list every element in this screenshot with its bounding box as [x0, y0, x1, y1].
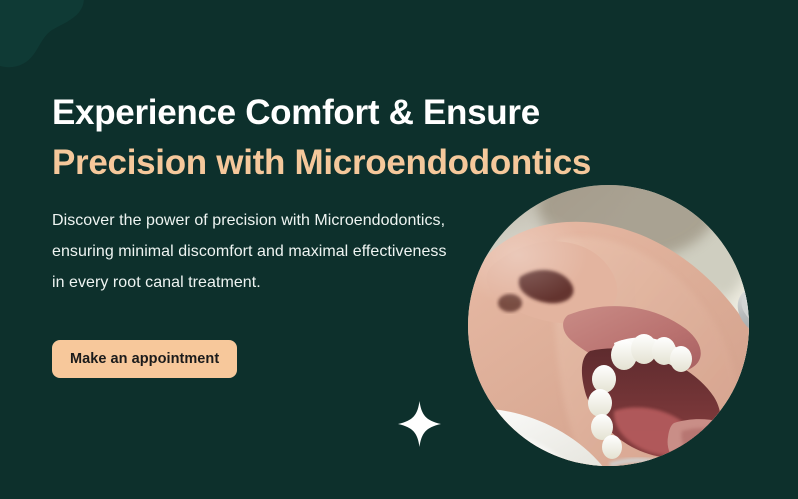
hero-banner: Experience Comfort & Ensure Precision wi… — [0, 0, 798, 499]
page-title: Experience Comfort & Ensure Precision wi… — [52, 0, 702, 188]
hero-description: Discover the power of precision with Mic… — [52, 188, 452, 298]
hero-content: Experience Comfort & Ensure Precision wi… — [52, 0, 702, 298]
sparkle-icon — [398, 401, 441, 447]
make-an-appointment-button[interactable]: Make an appointment — [52, 340, 237, 378]
headline-line-1: Experience Comfort & Ensure — [52, 93, 540, 132]
headline-line-2: Precision with Microendodontics — [52, 138, 702, 188]
